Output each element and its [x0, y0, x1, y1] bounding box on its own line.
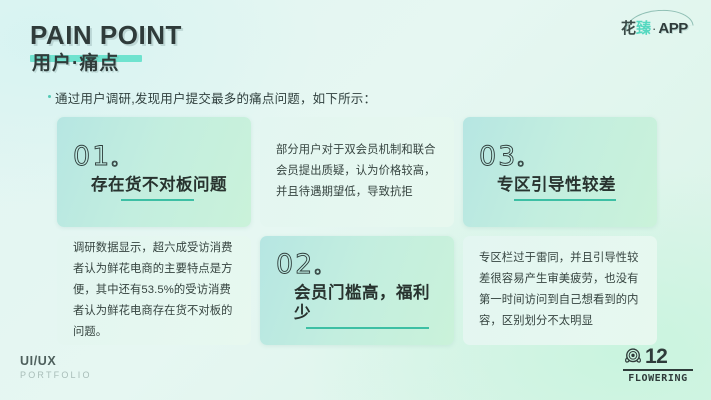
card-number: 03。 [479, 143, 641, 170]
card-heading-wrap: 专区引导性较差 [479, 176, 641, 201]
pain-point-grid: 01。存在货不对板问题部分用户对于双会员机制和联合会员提出质疑，认为价格较高，并… [57, 117, 657, 345]
card-body-text: 部分用户对于双会员机制和联合会员提出质疑，认为价格较高，并且待遇期望低，导致抗拒 [276, 140, 438, 203]
card-heading: 存在货不对板问题 [91, 176, 227, 201]
footer-uiux-label: UI/UX [20, 354, 92, 368]
card-body-text: 调研数据显示，超六成受访消费者认为鲜花电商的主要特点是方便，其中还有53.5%的… [73, 238, 235, 342]
footer-logo-row: 12 [623, 346, 693, 367]
card-number-dot: 。 [111, 150, 130, 170]
pain-point-03-detail: 专区栏过于雷同，并且引导性较差很容易产生审美疲劳，也没有第一时间访问到自己想看到… [463, 236, 657, 346]
card-body-text: 专区栏过于雷同，并且引导性较差很容易产生审美疲劳，也没有第一时间访问到自己想看到… [479, 248, 641, 332]
card-number: 01。 [73, 143, 235, 170]
page-header: PAIN POINT 用户·痛点 [30, 22, 182, 75]
heading-underline [306, 327, 430, 329]
card-number: 02。 [276, 251, 438, 278]
page-title-cn-wrap: 用户·痛点 [30, 53, 121, 75]
footer-number: 12 [645, 346, 667, 367]
brand-logo-top-right: 花 臻 · APP [621, 10, 695, 38]
brand-app-text: APP [658, 20, 687, 37]
pain-point-01: 01。存在货不对板问题 [57, 117, 251, 227]
pain-point-01-detail: 调研数据显示，超六成受访消费者认为鲜花电商的主要特点是方便，其中还有53.5%的… [57, 236, 251, 346]
card-heading: 会员门槛高，福利少 [294, 284, 438, 329]
rose-icon [623, 347, 643, 367]
footer-right-logo: 12 FLOWERING [623, 346, 693, 384]
card-heading-wrap: 存在货不对板问题 [73, 176, 235, 201]
brand-char-accent: 臻 [636, 17, 650, 38]
brand-separator: · [651, 21, 657, 36]
footer-brand-word: FLOWERING [623, 373, 693, 384]
section-subtitle: 通过用户调研,发现用户提交最多的痛点问题，如下所示： [48, 88, 376, 107]
pain-point-03: 03。专区引导性较差 [463, 117, 657, 227]
footer-left: UI/UX PORTFOLIO [20, 354, 92, 380]
bullet-dot-icon [48, 95, 51, 98]
subtitle-text: 通过用户调研,发现用户提交最多的痛点问题，如下所示： [55, 92, 376, 106]
card-heading: 专区引导性较差 [497, 176, 616, 201]
pain-point-02: 02。会员门槛高，福利少 [260, 236, 454, 346]
card-heading-wrap: 会员门槛高，福利少 [276, 284, 438, 329]
page-title-cn: 用户·痛点 [32, 53, 119, 75]
brand-char-dark: 花 [621, 17, 635, 38]
heading-underline [514, 199, 616, 201]
pain-point-02-detail: 部分用户对于双会员机制和联合会员提出质疑，认为价格较高，并且待遇期望低，导致抗拒 [260, 117, 454, 227]
footer-divider [623, 369, 693, 371]
heading-underline [121, 199, 194, 201]
brand-text-row: 花 臻 · APP [621, 17, 688, 38]
card-number-dot: 。 [517, 150, 536, 170]
footer-portfolio-label: PORTFOLIO [20, 370, 92, 380]
page-title-en: PAIN POINT [30, 22, 182, 48]
card-number-dot: 。 [314, 258, 333, 278]
